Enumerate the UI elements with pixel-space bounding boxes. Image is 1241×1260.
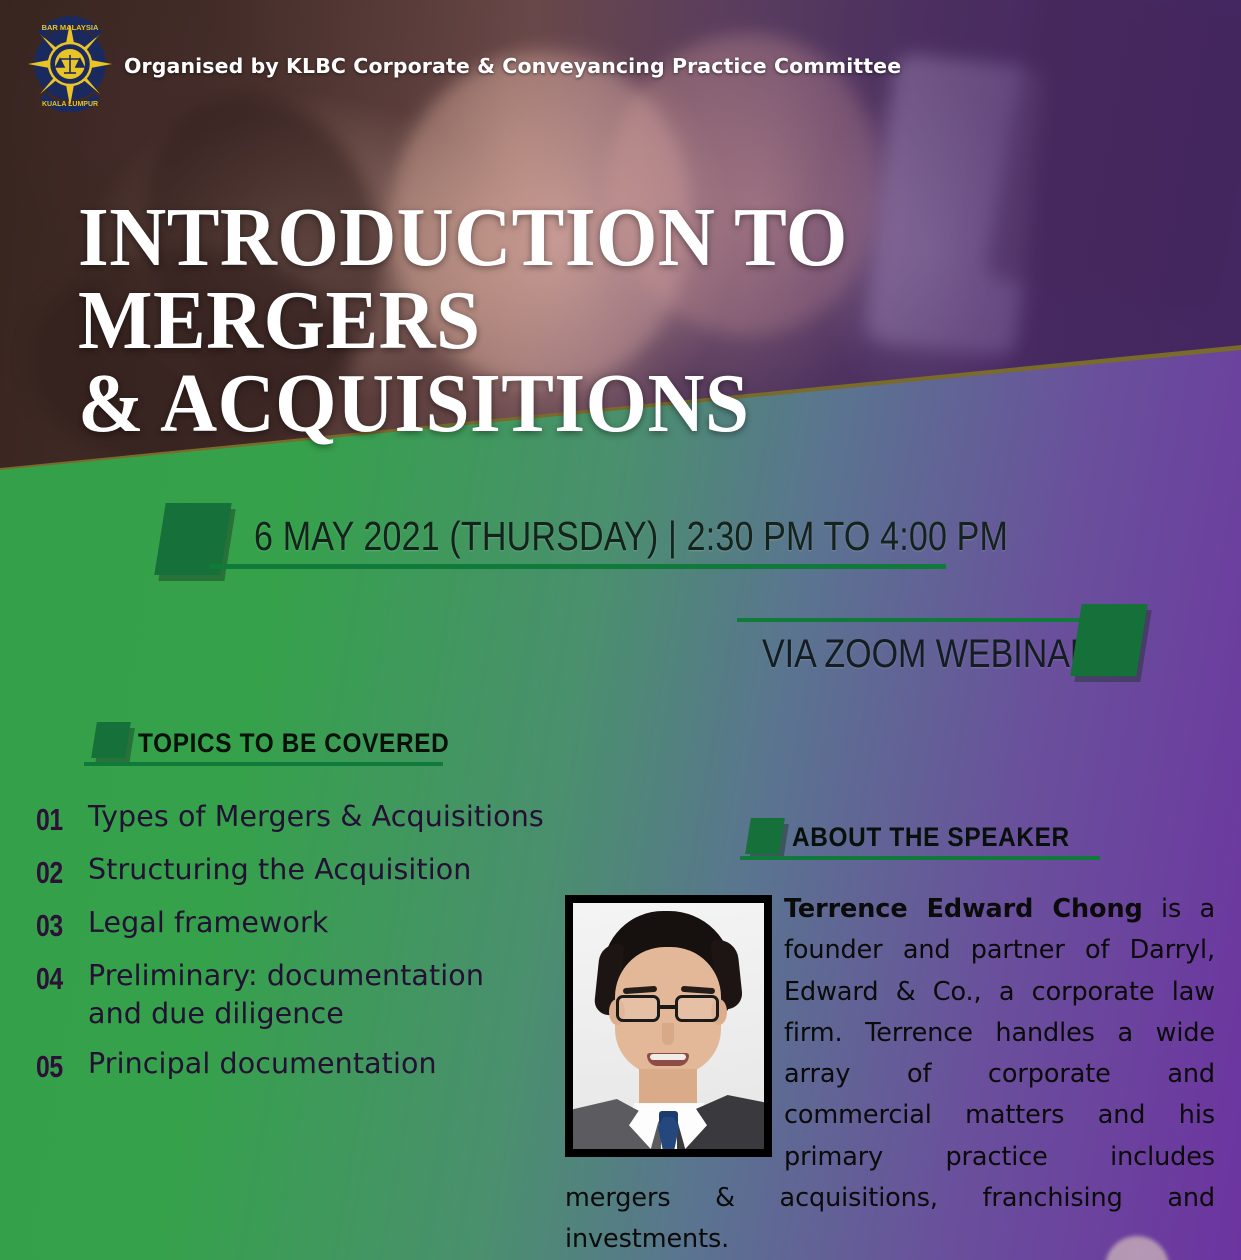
topics-list: 01 Types of Mergers & Acquisitions 02 St… (36, 798, 556, 1098)
list-item: 05 Principal documentation (36, 1045, 556, 1085)
event-platform: VIA ZOOM WEBINAR (762, 632, 1094, 677)
topic-label: Preliminary: documentation and due dilig… (88, 957, 488, 1033)
topic-number: 04 (36, 957, 78, 997)
event-datetime: 6 MAY 2021 (THURSDAY) | 2:30 PM TO 4:00 … (254, 513, 1008, 560)
list-item: 02 Structuring the Acquisition (36, 851, 556, 891)
topic-label: Types of Mergers & Acquisitions (88, 798, 544, 836)
organiser-line: Organised by KLBC Corporate & Conveyanci… (124, 54, 901, 78)
speaker-heading: ABOUT THE SPEAKER (792, 822, 1070, 853)
topic-label: Legal framework (88, 904, 328, 942)
topics-heading: TOPICS TO BE COVERED (138, 728, 449, 759)
list-item: 03 Legal framework (36, 904, 556, 944)
date-underline (210, 564, 946, 569)
platform-accent-chip (1070, 604, 1147, 676)
title-line-1: INTRODUCTION TO MERGERS (78, 191, 848, 367)
topic-number: 05 (36, 1045, 78, 1085)
speaker-name: Terrence Edward Chong (784, 894, 1143, 924)
topic-number: 01 (36, 798, 78, 838)
speaker-underline (740, 856, 1100, 860)
topic-label: Principal documentation (88, 1045, 437, 1083)
svg-text:KUALA LUMPUR: KUALA LUMPUR (42, 101, 98, 108)
topics-underline (84, 762, 443, 766)
platform-overline (737, 618, 1093, 622)
topic-number: 03 (36, 904, 78, 944)
topic-number: 02 (36, 851, 78, 891)
svg-text:BAR MALAYSIA: BAR MALAYSIA (42, 23, 99, 32)
speaker-block: Terrence Edward Chong is a founder and p… (565, 889, 1215, 1260)
topic-label: Structuring the Acquisition (88, 851, 471, 889)
title-line-2: & ACQUISITIONS (78, 362, 1093, 445)
topics-accent-chip (91, 722, 131, 758)
list-item: 04 Preliminary: documentation and due di… (36, 957, 556, 1033)
bar-malaysia-logo-icon: BAR MALAYSIA KUALA LUMPUR (26, 14, 114, 112)
speaker-photo (565, 895, 772, 1157)
list-item: 01 Types of Mergers & Acquisitions (36, 798, 556, 838)
speaker-accent-chip (745, 818, 785, 854)
page-title: INTRODUCTION TO MERGERS & ACQUISITIONS (78, 196, 1093, 445)
poster-canvas: BAR MALAYSIA KUALA LUMPUR Organised by K… (0, 0, 1241, 1260)
